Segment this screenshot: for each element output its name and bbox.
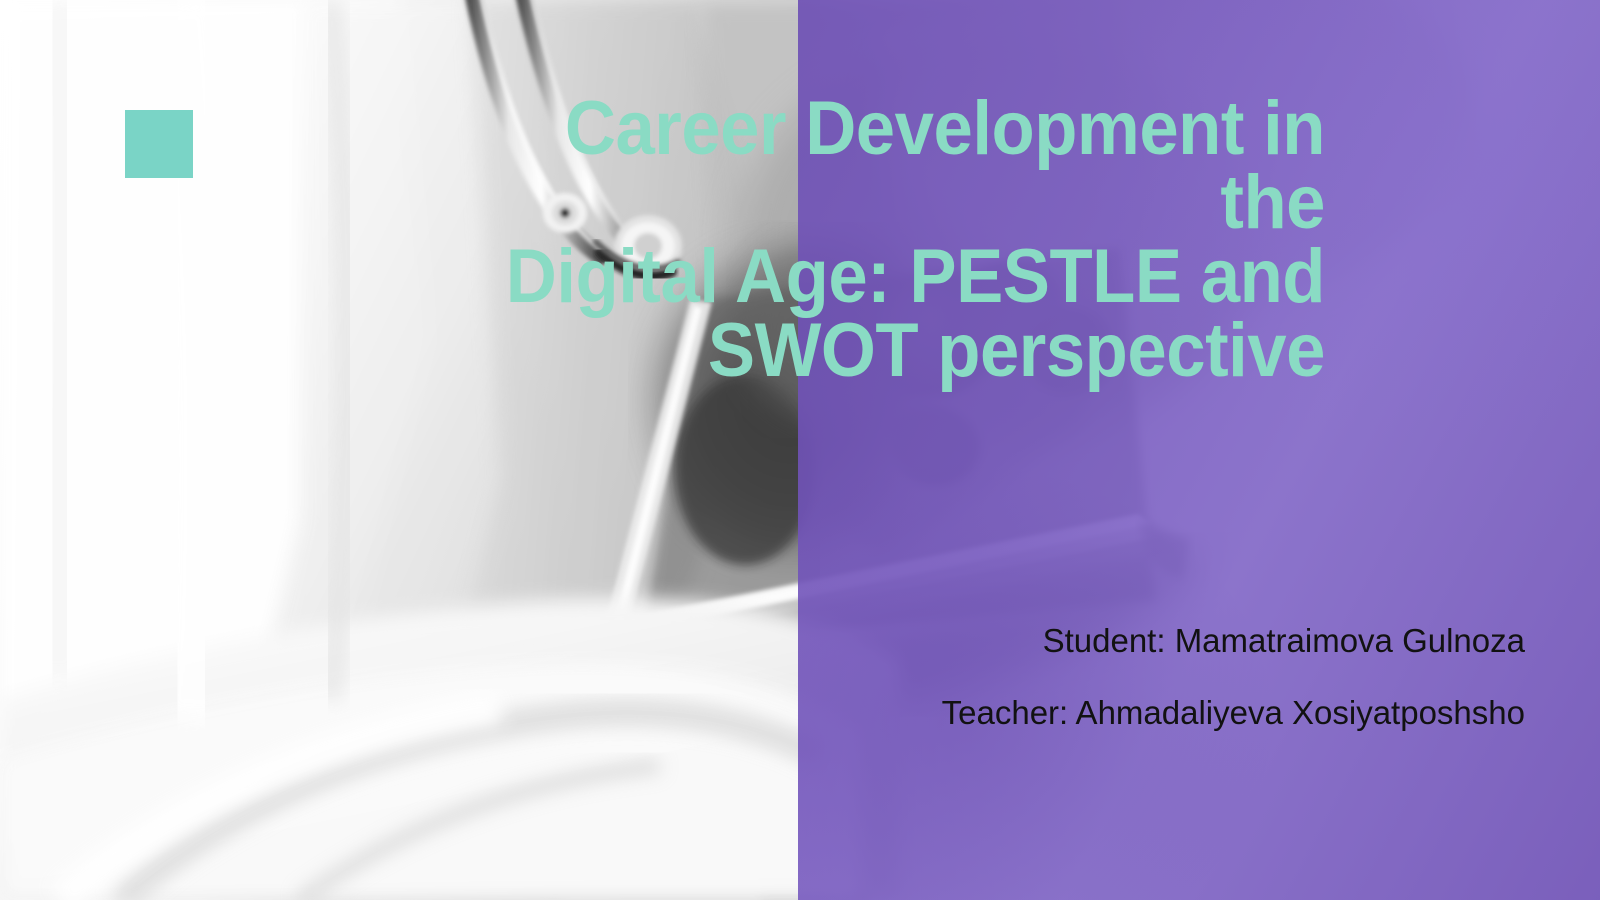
slide-title: Career Development in the Digital Age: P… (483, 92, 1325, 388)
credit-spacer (700, 660, 1525, 694)
teal-square-accent (125, 110, 193, 178)
student-credit: Student: Mamatraimova Gulnoza (700, 622, 1525, 660)
presentation-slide: Career Development in the Digital Age: P… (0, 0, 1600, 900)
credits-block: Student: Mamatraimova Gulnoza Teacher: A… (700, 622, 1525, 732)
teacher-credit: Teacher: Ahmadaliyeva Xosiyatposhsho (700, 694, 1525, 732)
